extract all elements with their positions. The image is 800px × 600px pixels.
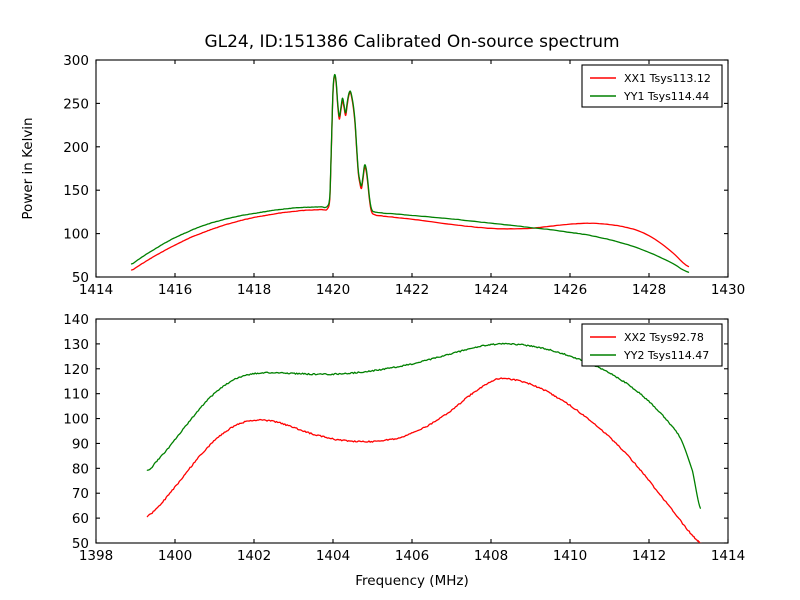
y-tick-label: 110 [63,387,89,403]
x-tick-label: 1418 [237,282,271,298]
y-axis-label: Power in Kelvin [20,117,36,219]
y-tick-label: 120 [63,362,89,378]
legend-label: XX1 Tsys113.12 [624,72,711,85]
x-tick-label: 1424 [474,282,508,298]
x-tick-label: 1400 [158,548,192,564]
legend-bottom: XX2 Tsys92.78YY2 Tsys114.47 [582,324,722,366]
x-tick-label: 1426 [553,282,587,298]
y-tick-label: 50 [72,536,89,552]
x-tick-label: 1402 [237,548,271,564]
x-tick-label: 1422 [395,282,429,298]
y-tick-label: 100 [63,227,89,243]
x-tick-label: 1410 [553,548,587,564]
data-layer-bottom [147,343,702,544]
y-tick-label: 140 [63,312,89,328]
x-tick-label: 1420 [316,282,350,298]
y-tick-label: 250 [63,96,89,112]
y-tick-label: 50 [72,270,89,286]
x-tick-label: 1408 [474,548,508,564]
panel-top: 1414141614181420142214241426142814305010… [20,32,745,298]
legend-top: XX1 Tsys113.12YY1 Tsys114.44 [582,65,722,107]
y-tick-label: 80 [72,461,89,477]
figure-title: GL24, ID:151386 Calibrated On-source spe… [204,32,619,52]
y-tick-label: 200 [63,140,89,156]
legend-label: YY2 Tsys114.47 [623,349,709,362]
series-line-yy2 [147,343,700,508]
y-tick-label: 90 [72,436,89,452]
plot-canvas: 1414141614181420142214241426142814305010… [0,0,800,600]
y-tick-label: 60 [72,511,89,527]
x-tick-label: 1412 [632,548,666,564]
y-tick-label: 100 [63,412,89,428]
legend-label: XX2 Tsys92.78 [624,331,704,344]
y-tick-label: 70 [72,486,89,502]
x-tick-label: 1428 [632,282,666,298]
panel-bottom: 1398140014021404140614081410141214145060… [63,312,745,589]
x-tick-label: 1430 [711,282,745,298]
x-tick-label: 1416 [158,282,192,298]
series-line-xx2 [147,378,702,544]
x-tick-label: 1404 [316,548,350,564]
legend-label: YY1 Tsys114.44 [623,90,709,103]
figure-container: 1414141614181420142214241426142814305010… [0,0,800,600]
y-tick-label: 300 [63,53,89,69]
y-tick-label: 150 [63,183,89,199]
x-tick-label: 1414 [711,548,745,564]
x-axis-label: Frequency (MHz) [355,573,468,589]
y-tick-label: 130 [63,337,89,353]
x-tick-label: 1406 [395,548,429,564]
